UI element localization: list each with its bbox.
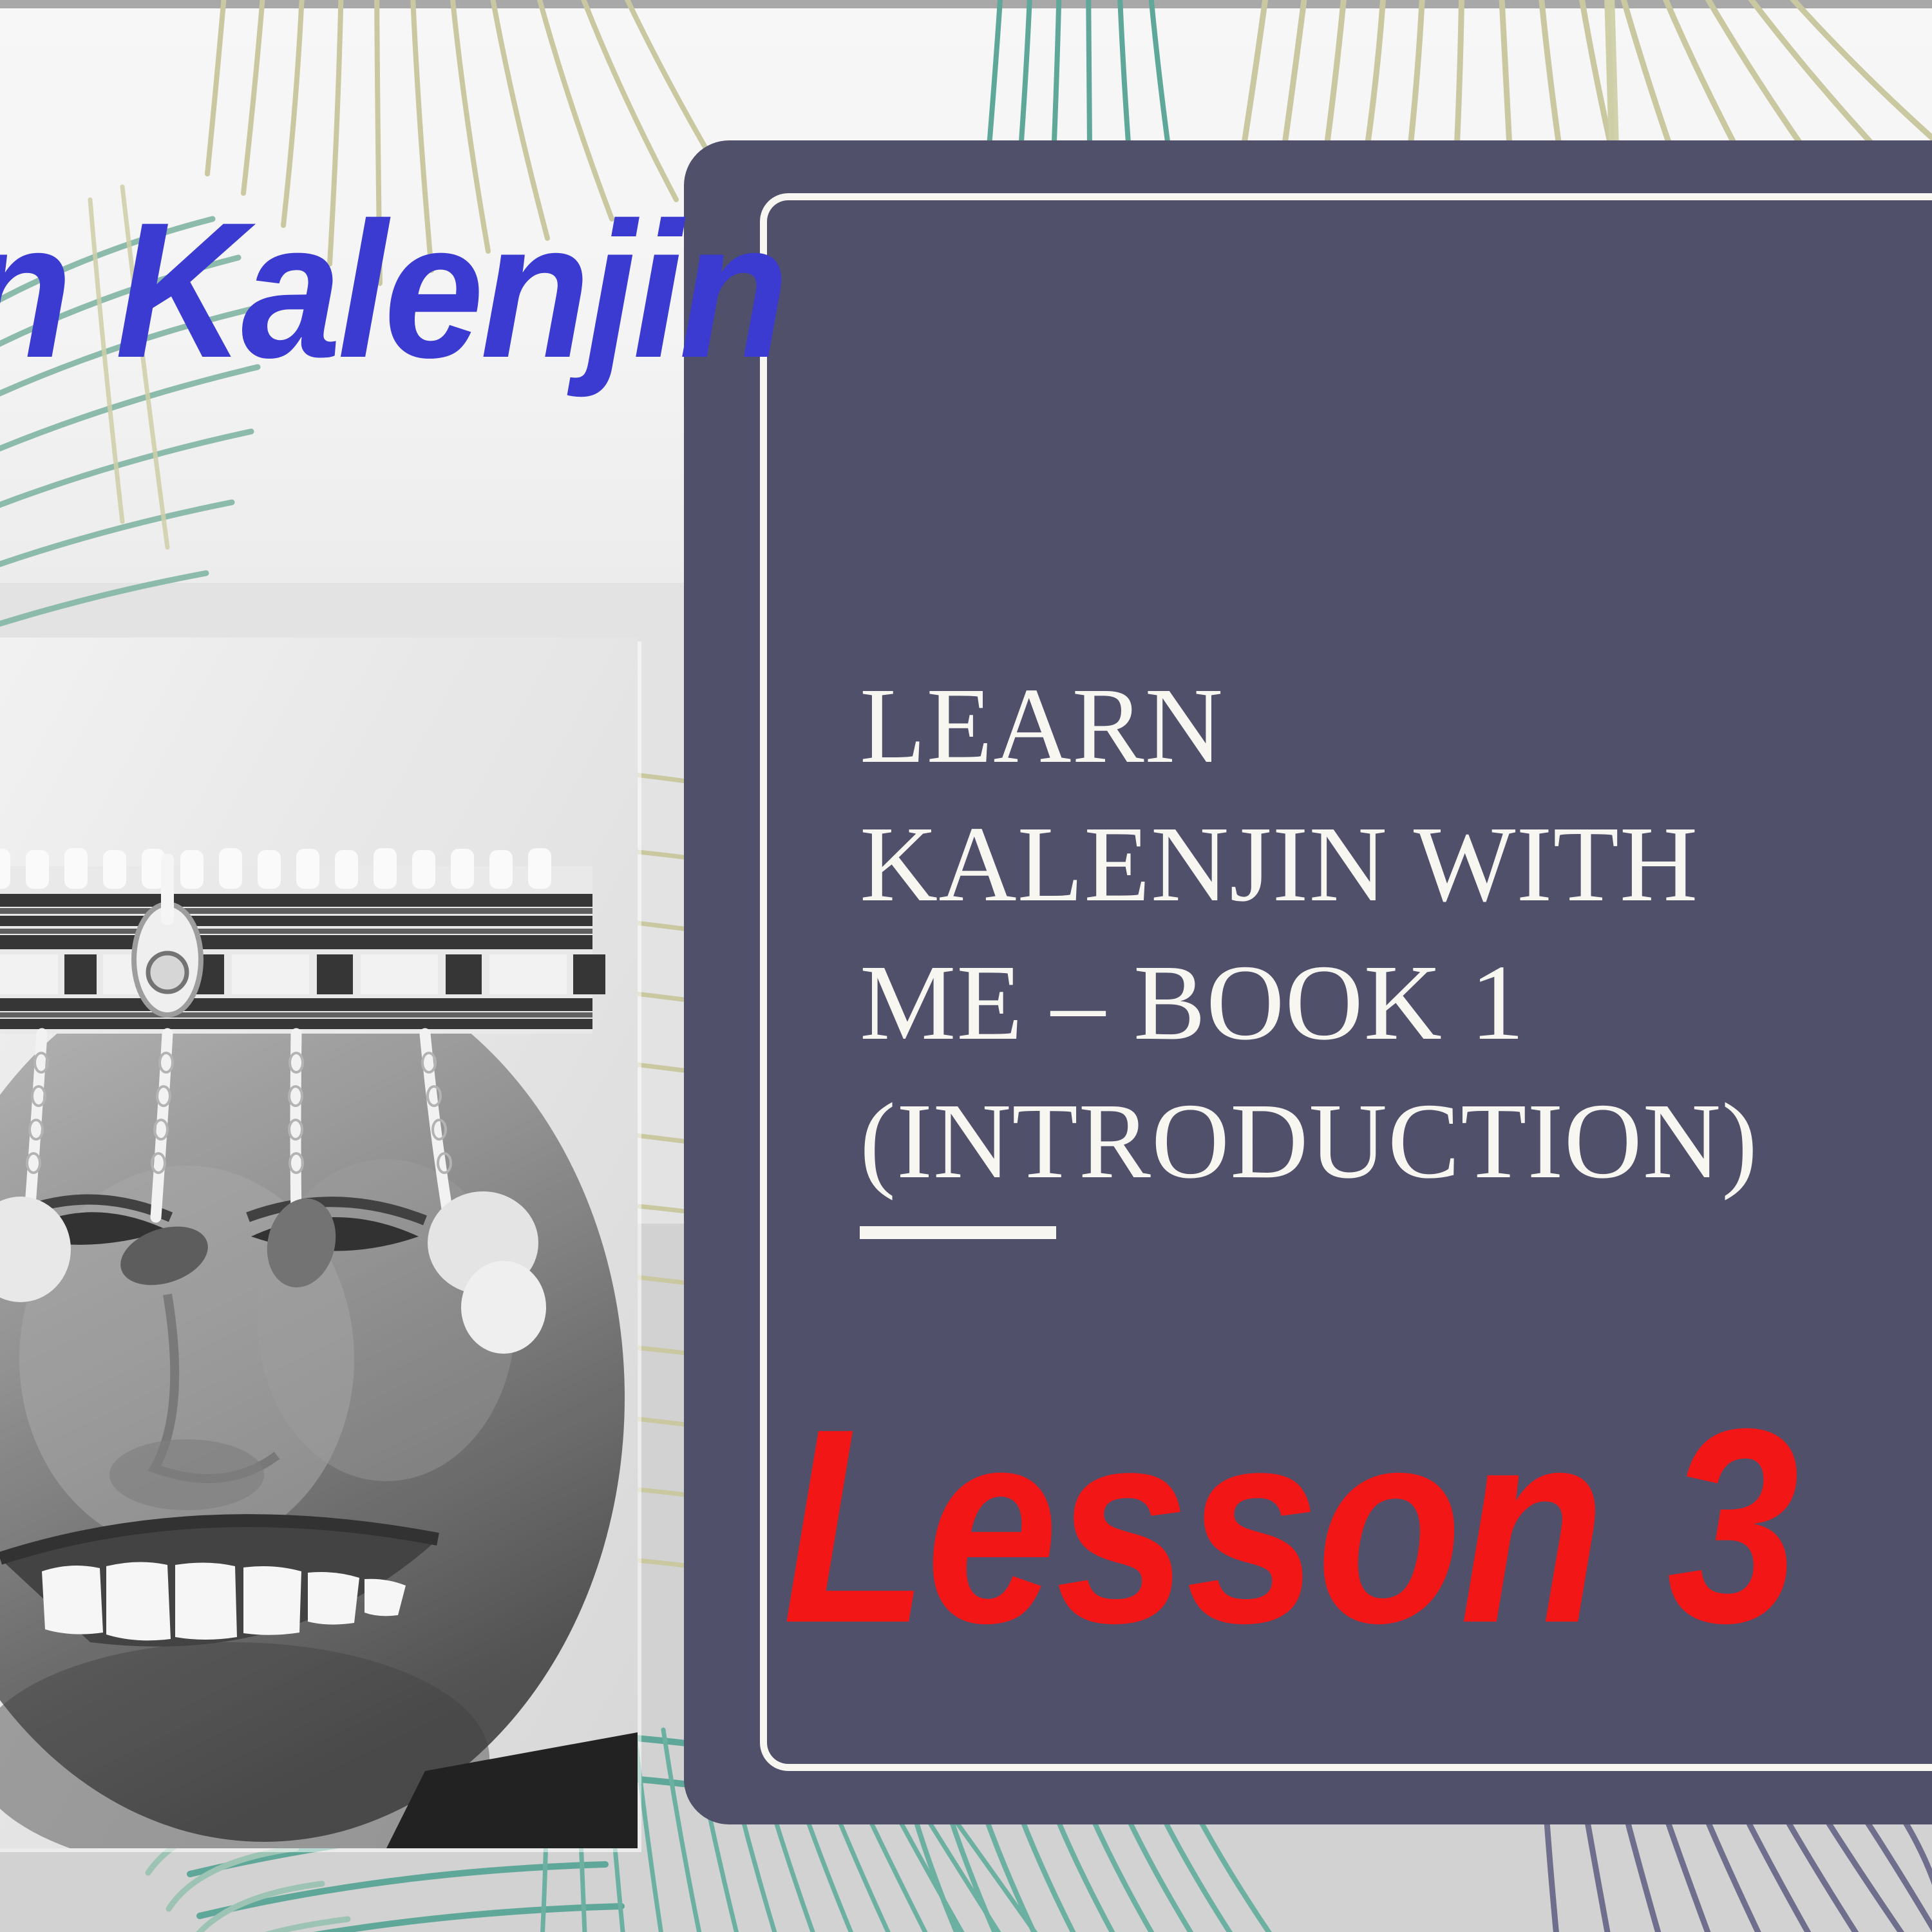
book-title-line-2: KALENJIN WITH xyxy=(860,795,1932,934)
series-title-overlay: in Kalenjin xyxy=(0,193,1114,386)
book-title-line-3: ME – BOOK 1 xyxy=(860,934,1932,1072)
book-title-line-1: LEARN xyxy=(860,657,1932,795)
slide-canvas: LEARN KALENJIN WITH ME – BOOK 1 (INTRODU… xyxy=(0,0,1932,1932)
card-content: LEARN KALENJIN WITH ME – BOOK 1 (INTRODU… xyxy=(860,657,1932,1239)
title-divider xyxy=(860,1226,1056,1239)
lesson-label: Lesson 3 xyxy=(782,1388,1797,1665)
book-title: LEARN KALENJIN WITH ME – BOOK 1 (INTRODU… xyxy=(860,657,1932,1211)
book-title-line-4: (INTRODUCTION) xyxy=(860,1072,1932,1211)
top-gray-bar xyxy=(0,0,1932,8)
portrait-photo xyxy=(0,638,638,1848)
